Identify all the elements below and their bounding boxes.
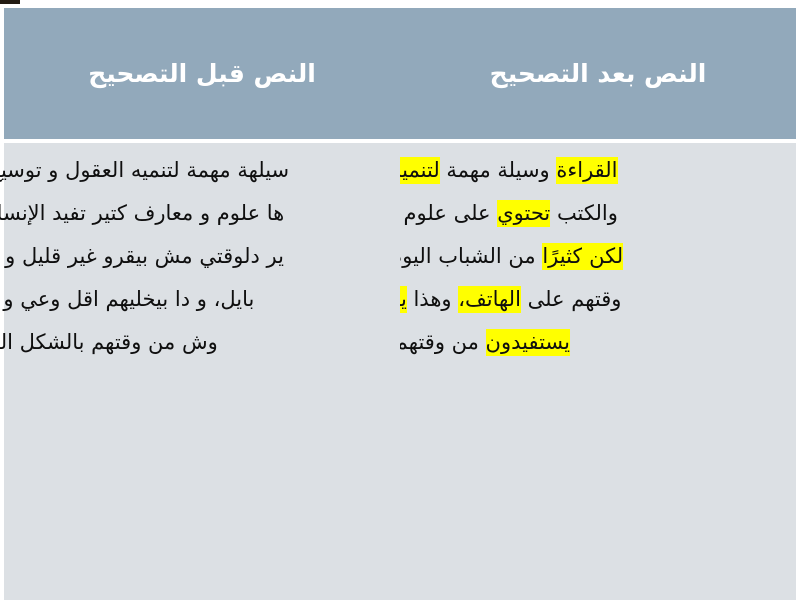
text-line: سيلهة مهمة لتنميه العقول و توسيع المدارك… — [0, 149, 470, 192]
text-line: ها علوم و معارف كتير تفيد الإنسان. لاكن … — [0, 192, 470, 235]
text-line: بايل، و دا بيخليهم اقل وعي و معرفه و — [0, 278, 470, 321]
table-body-row: القراءة وسيلة مهمة لتنمية العقول وتوسيع … — [0, 139, 800, 600]
plain-token: سيلهة مهمة لتنميه العقول و توسيع المدارك… — [0, 158, 289, 182]
comparison-table: النص بعد التصحيح النص قبل التصحيح القراء… — [0, 8, 800, 600]
text-line: ير دلوقتي مش بيقرو غير قليل و يقضو وقتهم — [0, 235, 470, 278]
plain-token: والكتب — [550, 201, 618, 225]
plain-token: ير دلوقتي مش بيقرو غير قليل و يقضو وقتهم — [0, 244, 284, 268]
highlighted-token: تحتوي — [497, 200, 550, 227]
highlighted-token: يستفيدون — [486, 329, 570, 356]
plain-token: وش من وقتهم بالشكل الصح. — [0, 330, 218, 354]
corner-marker — [0, 0, 20, 4]
plain-token: بايل، و دا بيخليهم اقل وعي و معرفه و — [0, 287, 254, 311]
plain-token: وقتهم على — [521, 287, 622, 311]
header-cell-corrected: النص بعد التصحيح — [400, 8, 800, 139]
text-line: وش من وقتهم بالشكل الصح. — [0, 321, 470, 364]
highlighted-token: لكن — [582, 243, 623, 270]
highlighted-token: كثيرًا — [542, 243, 582, 270]
highlighted-token: القراءة — [556, 157, 617, 184]
body-cell-original: سيلهة مهمة لتنميه العقول و توسيع المدارك… — [0, 139, 400, 600]
original-text-paragraph: سيلهة مهمة لتنميه العقول و توسيع المدارك… — [0, 149, 470, 364]
slide-canvas: النص بعد التصحيح النص قبل التصحيح القراء… — [0, 0, 800, 600]
header-cell-original: النص قبل التصحيح — [0, 8, 400, 139]
table-header-row: النص بعد التصحيح النص قبل التصحيح — [0, 8, 800, 139]
plain-token: ها علوم و معارف كتير تفيد الإنسان. لاكن … — [0, 201, 284, 225]
